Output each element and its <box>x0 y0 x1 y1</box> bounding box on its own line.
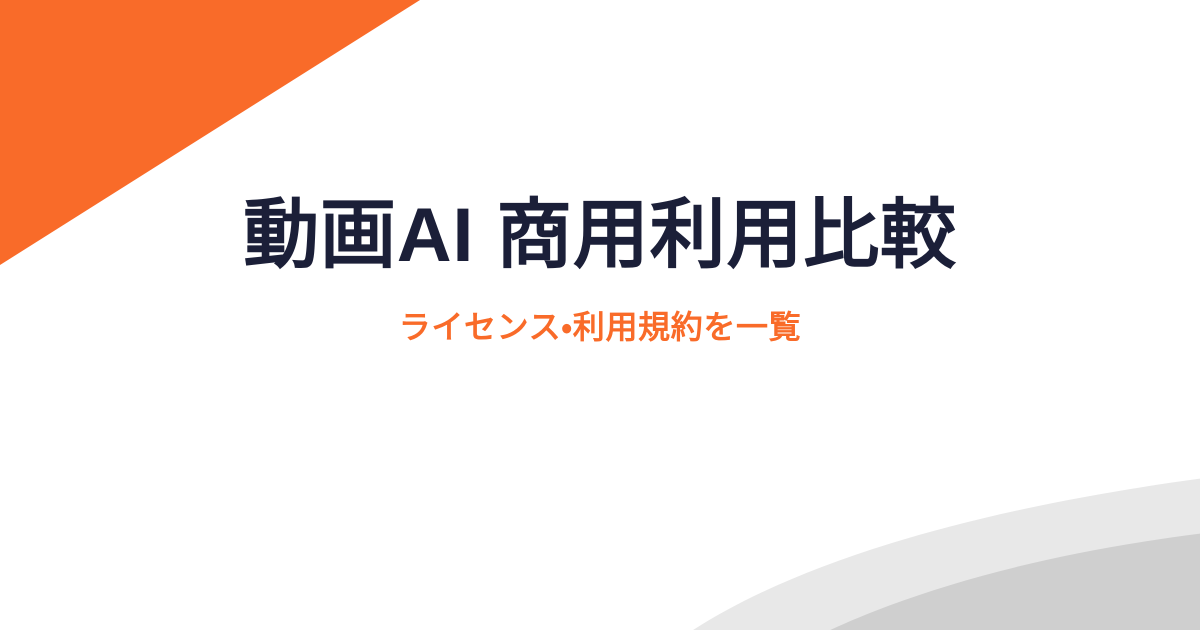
og-image-card: 動画AI 商用利用比較 ライセンス・利用規約を一覧 <box>0 0 1200 630</box>
page-title: 動画AI 商用利用比較 <box>243 196 956 277</box>
hero-content: 動画AI 商用利用比較 ライセンス・利用規約を一覧 <box>0 0 1200 630</box>
page-subtitle: ライセンス・利用規約を一覧 <box>399 277 802 346</box>
